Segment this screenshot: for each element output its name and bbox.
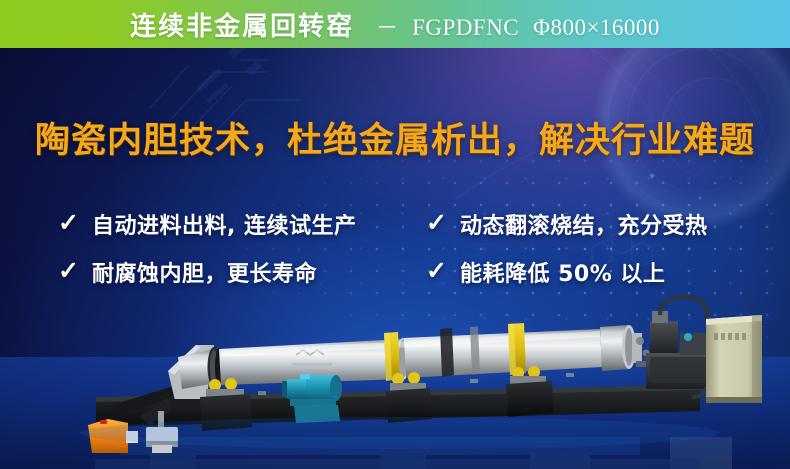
support-plinth-2 bbox=[386, 372, 432, 423]
product-illustration bbox=[0, 275, 790, 469]
feature-label: 耐腐蚀内胆，更长寿命 bbox=[92, 256, 317, 288]
model-name: FGPDFNC bbox=[412, 15, 519, 40]
check-icon: ✓ bbox=[426, 259, 447, 284]
product-banner: 连续非金属回转窑 － FGPDFNCΦ800×16000 陶瓷内胆技术，杜绝金属… bbox=[0, 0, 790, 469]
control-cabinet bbox=[706, 315, 762, 403]
feature-label: 能耗降低 50% 以上 bbox=[460, 256, 665, 288]
feature-item-1: ✓ 自动进料出料, 连续试生产 bbox=[58, 200, 418, 248]
page-title: 连续非金属回转窑 bbox=[130, 6, 354, 43]
feature-item-2: ✓ 动态翻滚烧结，充分受热 bbox=[426, 200, 790, 248]
model-number: FGPDFNCΦ800×16000 bbox=[412, 15, 660, 41]
header-bar: 连续非金属回转窑 － FGPDFNCΦ800×16000 bbox=[0, 0, 790, 48]
check-icon: ✓ bbox=[426, 211, 447, 236]
rotary-kiln-svg bbox=[0, 275, 790, 469]
hydraulic-unit bbox=[646, 297, 712, 405]
header-content: 连续非金属回转窑 － FGPDFNCΦ800×16000 bbox=[130, 6, 660, 43]
feature-item-3: ✓ 耐腐蚀内胆，更长寿命 bbox=[58, 248, 418, 296]
headline-text: 陶瓷内胆技术，杜绝金属析出，解决行业难题 bbox=[0, 112, 790, 163]
check-icon: ✓ bbox=[58, 259, 79, 284]
model-spec: Φ800×16000 bbox=[533, 15, 660, 40]
feature-label: 自动进料出料, 连续试生产 bbox=[92, 208, 357, 240]
feature-list: ✓ 自动进料出料, 连续试生产 ✓ 动态翻滚烧结，充分受热 ✓ 耐腐蚀内胆，更长… bbox=[0, 200, 790, 296]
support-plinth-3 bbox=[506, 366, 554, 417]
check-icon: ✓ bbox=[58, 211, 79, 236]
feature-label: 动态翻滚烧结，充分受热 bbox=[460, 208, 708, 240]
feature-item-4: ✓ 能耗降低 50% 以上 bbox=[426, 248, 790, 296]
title-separator: － bbox=[354, 10, 412, 42]
